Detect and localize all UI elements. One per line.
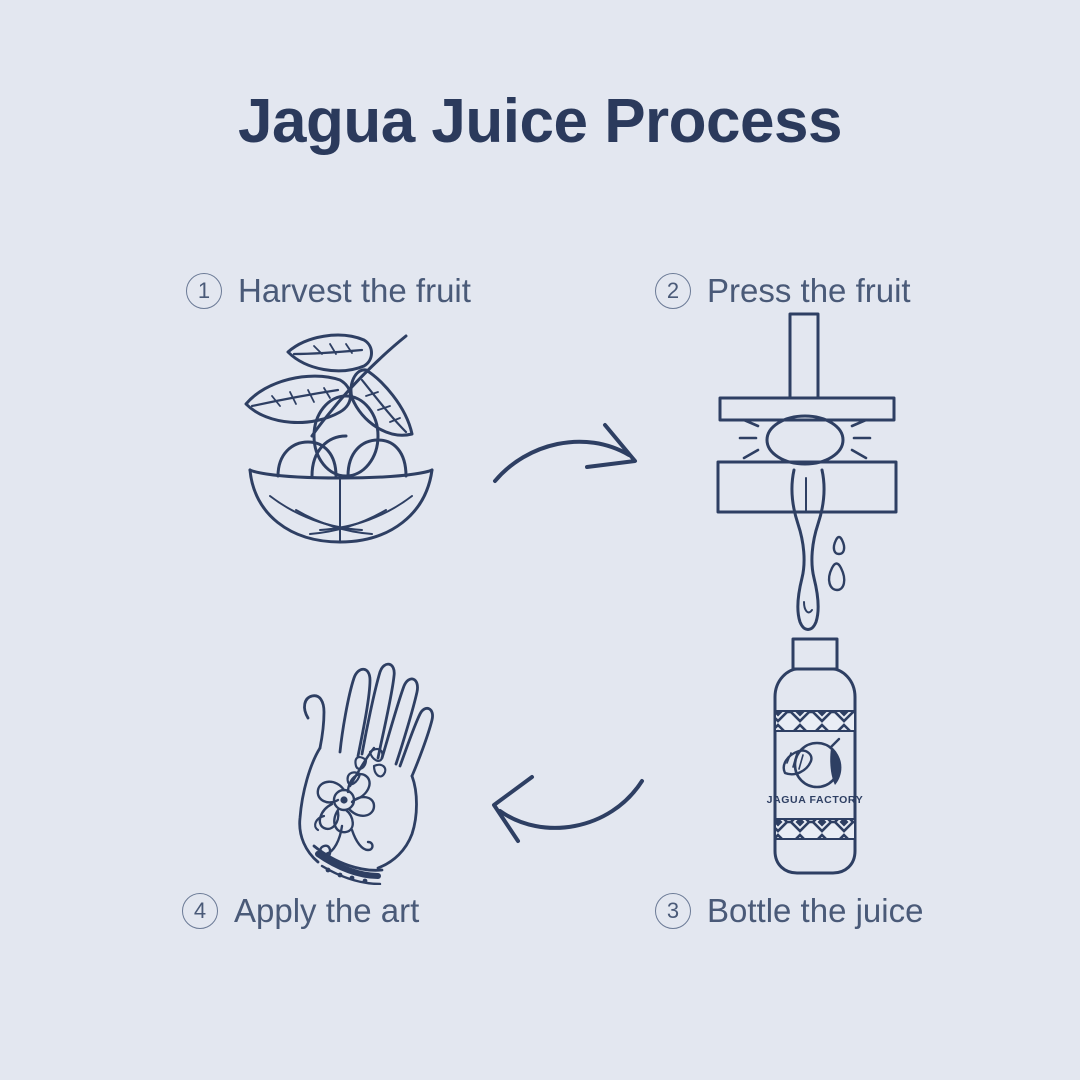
step-text-3: Bottle the juice (707, 892, 923, 930)
step-label-bottle: 3 Bottle the juice (655, 892, 923, 930)
step-label-harvest: 1 Harvest the fruit (186, 272, 471, 310)
arrow-bottle-to-apply-icon (470, 755, 655, 855)
step-text-4: Apply the art (234, 892, 419, 930)
hand-illustration (262, 640, 462, 885)
press-illustration (700, 310, 915, 655)
step-label-press: 2 Press the fruit (655, 272, 911, 310)
harvest-illustration (236, 318, 446, 548)
infographic-canvas: Jagua Juice Process 1 Harvest the fruit … (0, 0, 1080, 1080)
step-number-4: 4 (182, 893, 218, 929)
arrow-harvest-to-press-icon (487, 405, 657, 505)
bottle-brand-label: JAGUA FACTORY (767, 794, 864, 806)
bottle-illustration: JAGUA FACTORY (745, 635, 885, 880)
step-text-1: Harvest the fruit (238, 272, 471, 310)
step-number-2: 2 (655, 273, 691, 309)
step-number-3: 3 (655, 893, 691, 929)
step-label-apply: 4 Apply the art (182, 892, 419, 930)
step-text-2: Press the fruit (707, 272, 911, 310)
step-number-1: 1 (186, 273, 222, 309)
page-title: Jagua Juice Process (0, 86, 1080, 157)
